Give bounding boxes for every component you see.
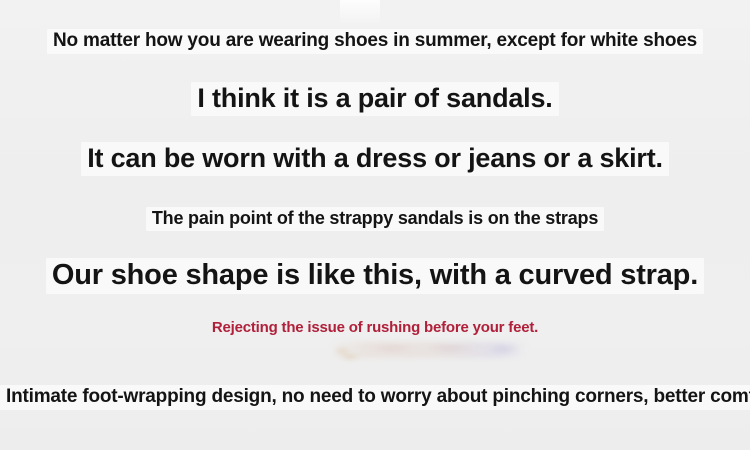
headline-line-4-text: The pain point of the strappy sandals is… <box>146 207 604 231</box>
headline-line-7: Intimate foot-wrapping design, no need t… <box>0 385 750 410</box>
headline-line-7-text: Intimate foot-wrapping design, no need t… <box>0 385 750 410</box>
headline-line-3: It can be worn with a dress or jeans or … <box>0 142 750 176</box>
headline-line-2: I think it is a pair of sandals. <box>0 82 750 116</box>
highlight-line-6-text: Rejecting the issue of rushing before yo… <box>212 319 538 337</box>
highlight-line-6: Rejecting the issue of rushing before yo… <box>160 319 590 337</box>
blurred-photo-remnant-secondary <box>336 352 376 362</box>
headline-line-4: The pain point of the strappy sandals is… <box>0 207 750 231</box>
headline-line-5: Our shoe shape is like this, with a curv… <box>0 258 750 294</box>
blurred-photo-remnant <box>332 342 528 358</box>
headline-line-1: No matter how you are wearing shoes in s… <box>0 29 750 54</box>
headline-line-3-text: It can be worn with a dress or jeans or … <box>81 142 669 176</box>
headline-line-5-text: Our shoe shape is like this, with a curv… <box>46 258 704 294</box>
product-description-banner: No matter how you are wearing shoes in s… <box>0 0 750 450</box>
headline-line-1-text: No matter how you are wearing shoes in s… <box>47 29 703 54</box>
headline-line-2-text: I think it is a pair of sandals. <box>191 82 558 116</box>
top-light-streak <box>340 0 380 26</box>
